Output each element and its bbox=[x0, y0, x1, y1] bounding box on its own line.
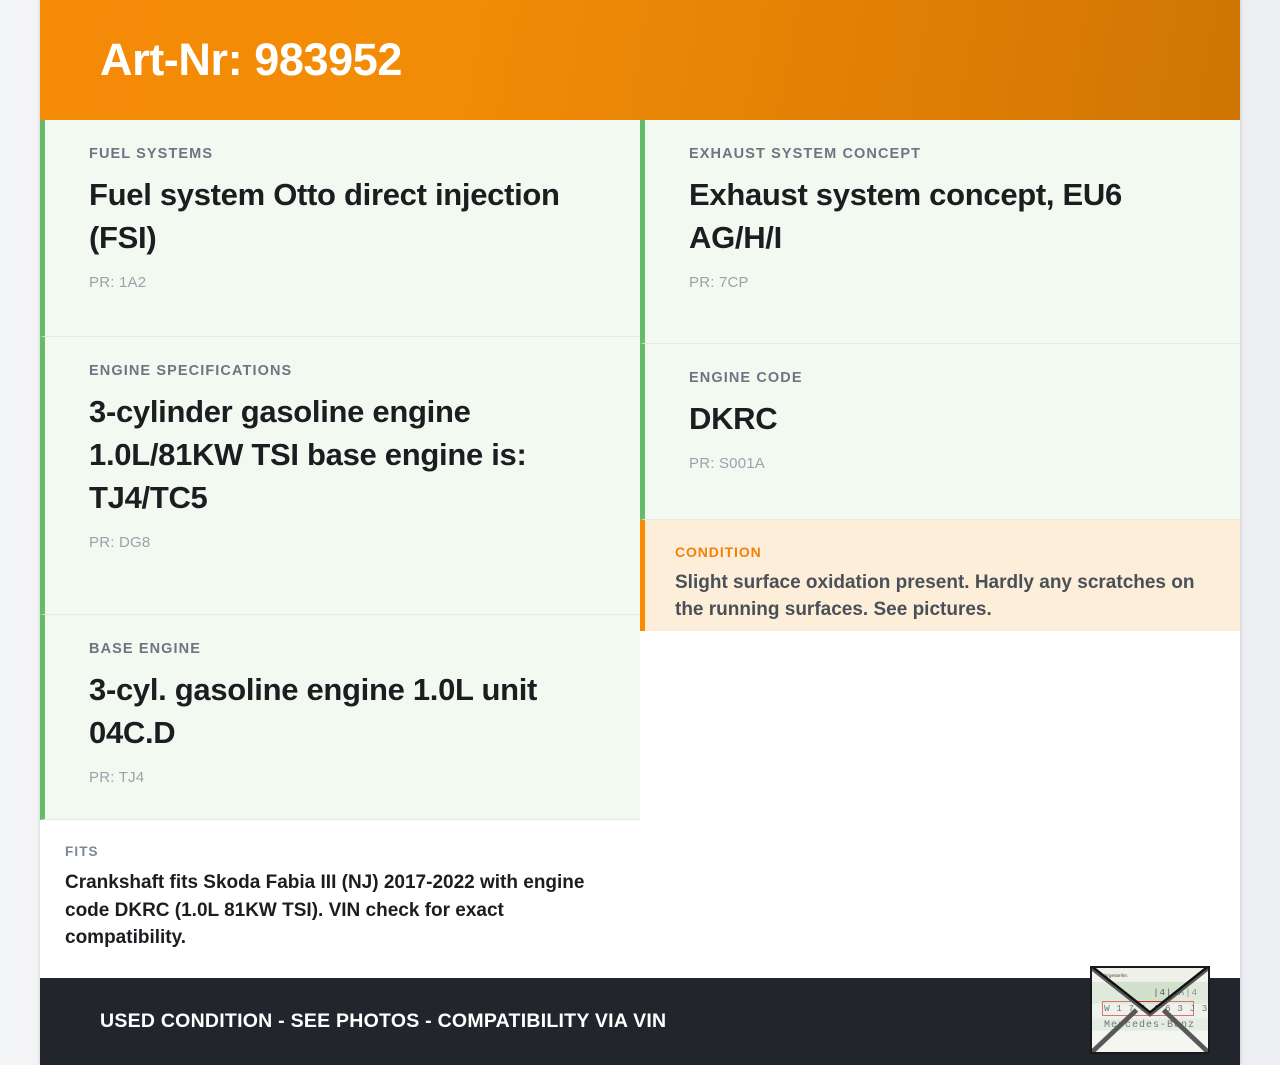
spec-card-label: Base engine bbox=[89, 641, 596, 657]
condition-card: Condition Slight surface oxidation prese… bbox=[640, 520, 1240, 631]
fits-label: Fits bbox=[65, 844, 596, 859]
spec-card-title: DKRC bbox=[689, 398, 1196, 441]
page-title: Art-Nr: 983952 bbox=[100, 35, 402, 85]
spec-card-pr-code: PR: 1A2 bbox=[89, 274, 596, 291]
spec-card-label: Exhaust system concept bbox=[689, 146, 1196, 162]
spec-grid: Fuel systems Fuel system Otto direct inj… bbox=[40, 120, 1240, 978]
spec-card-pr-code: PR: TJ4 bbox=[89, 769, 596, 786]
spec-card-label: Engine specifications bbox=[89, 363, 596, 379]
footer-text: USED CONDITION - SEE PHOTOS - COMPATIBIL… bbox=[100, 1010, 666, 1033]
footer-bar: USED CONDITION - SEE PHOTOS - COMPATIBIL… bbox=[40, 978, 1240, 1065]
right-column-filler bbox=[640, 631, 1240, 978]
fits-text: Crankshaft fits Skoda Fabia III (NJ) 201… bbox=[65, 869, 596, 952]
listing-sheet: Art-Nr: 983952 Fuel systems Fuel system … bbox=[40, 0, 1240, 1065]
spec-column-left: Fuel systems Fuel system Otto direct inj… bbox=[40, 120, 640, 978]
spec-card-pr-code: PR: 7CP bbox=[689, 274, 1196, 291]
fits-section: Fits Crankshaft fits Skoda Fabia III (NJ… bbox=[40, 820, 640, 978]
spec-card-exhaust-system-concept: Exhaust system concept Exhaust system co… bbox=[640, 120, 1240, 344]
envelope-icon bbox=[1092, 968, 1208, 1052]
vin-document-thumbnail[interactable]: Fahrgestellnr. |4| A|4 W 1 7 1 4 6 3 J 3… bbox=[1090, 966, 1210, 1054]
condition-text: Slight surface oxidation present. Hardly… bbox=[675, 570, 1196, 624]
spec-column-right: Exhaust system concept Exhaust system co… bbox=[640, 120, 1240, 978]
spec-card-label: Engine code bbox=[689, 370, 1196, 386]
spec-card-title: 3-cylinder gasoline engine 1.0L/81KW TSI… bbox=[89, 391, 596, 519]
spec-card-label: Fuel systems bbox=[89, 146, 596, 162]
spec-card-pr-code: PR: S001A bbox=[689, 455, 1196, 472]
spec-card-engine-specifications: Engine specifications 3-cylinder gasolin… bbox=[40, 337, 640, 615]
spec-card-engine-code: Engine code DKRC PR: S001A bbox=[640, 344, 1240, 520]
spec-card-pr-code: PR: DG8 bbox=[89, 534, 596, 551]
spec-card-title: 3-cyl. gasoline engine 1.0L unit 04C.D bbox=[89, 669, 596, 755]
spec-card-fuel-systems: Fuel systems Fuel system Otto direct inj… bbox=[40, 120, 640, 337]
condition-label: Condition bbox=[675, 544, 1196, 560]
header-banner: Art-Nr: 983952 bbox=[40, 0, 1240, 120]
spec-card-title: Fuel system Otto direct injection (FSI) bbox=[89, 174, 596, 260]
spec-card-base-engine: Base engine 3-cyl. gasoline engine 1.0L … bbox=[40, 615, 640, 820]
spec-card-title: Exhaust system concept, EU6 AG/H/I bbox=[689, 174, 1196, 260]
